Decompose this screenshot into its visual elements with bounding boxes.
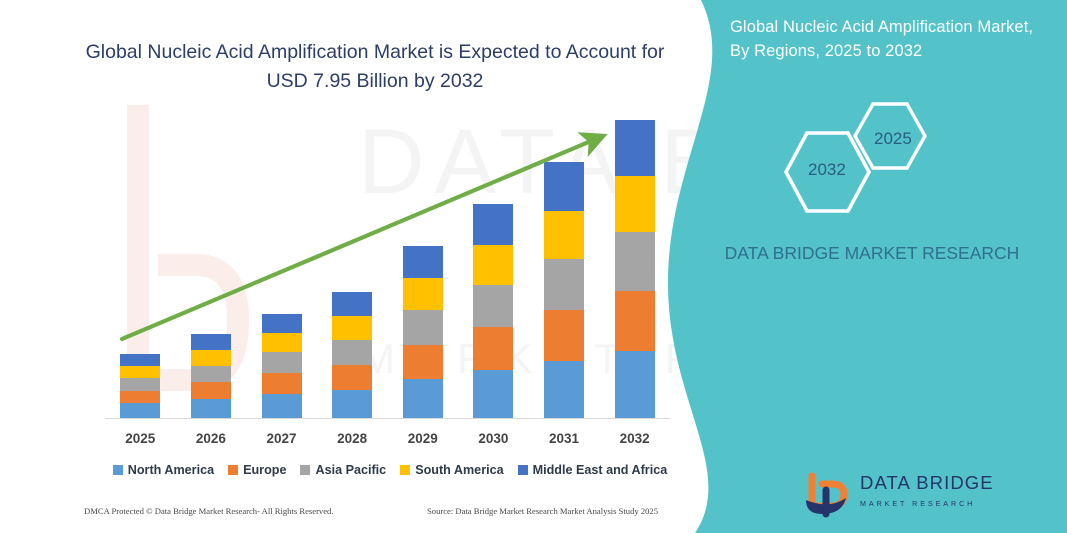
- legend-label: Asia Pacific: [315, 463, 386, 477]
- bar-segment-2032-south-america: [615, 176, 655, 231]
- bar-segment-2029-north-america: [403, 379, 443, 418]
- chart-legend: North AmericaEuropeAsia PacificSouth Ame…: [100, 459, 680, 481]
- x-axis-label-2029: 2029: [403, 431, 443, 446]
- bar-segment-2026-middle-east-and-africa: [191, 334, 231, 350]
- bar-2030: [473, 204, 513, 418]
- legend-item-middle-east-and-africa[interactable]: Middle East and Africa: [518, 463, 668, 477]
- bar-segment-2032-middle-east-and-africa: [615, 120, 655, 176]
- bar-segment-2031-europe: [544, 310, 584, 361]
- hexagon-2025-shape: [855, 104, 925, 168]
- bar-2027: [262, 314, 302, 418]
- bar-segment-2028-europe: [332, 365, 372, 390]
- bar-segment-2030-asia-pacific: [473, 285, 513, 328]
- footer-dmca: DMCA Protected © Data Bridge Market Rese…: [84, 506, 334, 516]
- legend-label: Europe: [243, 463, 286, 477]
- legend-item-europe[interactable]: Europe: [228, 463, 286, 477]
- infographic-root: DATA BRIDGE MARKET RESEARCH Global Nucle…: [0, 0, 1067, 533]
- dbmr-logo-mark-icon: [802, 472, 854, 518]
- bar-segment-2028-middle-east-and-africa: [332, 292, 372, 316]
- bar-segment-2025-south-america: [120, 366, 160, 378]
- x-axis-label-2032: 2032: [615, 431, 655, 446]
- legend-label: Middle East and Africa: [533, 463, 668, 477]
- hexagon-label-2032: 2032: [808, 160, 846, 180]
- bar-segment-2027-south-america: [262, 333, 302, 352]
- x-axis-label-2025: 2025: [120, 431, 160, 446]
- chart-bars: [105, 120, 670, 418]
- bar-segment-2025-asia-pacific: [120, 378, 160, 391]
- bar-segment-2030-north-america: [473, 370, 513, 418]
- legend-item-south-america[interactable]: South America: [400, 463, 503, 477]
- bar-segment-2030-europe: [473, 327, 513, 370]
- x-axis-label-2028: 2028: [332, 431, 372, 446]
- bar-2028: [332, 292, 372, 418]
- bar-segment-2030-middle-east-and-africa: [473, 204, 513, 244]
- bar-segment-2029-asia-pacific: [403, 310, 443, 344]
- regions-side-panel: Global Nucleic Acid Amplification Market…: [667, 0, 1067, 533]
- bar-segment-2029-middle-east-and-africa: [403, 246, 443, 278]
- bar-segment-2029-south-america: [403, 278, 443, 310]
- chart-baseline: [105, 418, 670, 419]
- bar-2031: [544, 162, 584, 418]
- bar-2025: [120, 354, 160, 418]
- bar-segment-2031-asia-pacific: [544, 259, 584, 310]
- x-axis-label-2026: 2026: [191, 431, 231, 446]
- legend-item-north-america[interactable]: North America: [113, 463, 214, 477]
- footer: DMCA Protected © Data Bridge Market Rese…: [0, 506, 740, 528]
- bar-segment-2028-north-america: [332, 390, 372, 418]
- dbmr-logo-line-1: DATA BRIDGE: [860, 474, 994, 493]
- bar-segment-2027-north-america: [262, 394, 302, 418]
- footer-source: Source: Data Bridge Market Research Mark…: [427, 506, 658, 516]
- legend-swatch-icon: [228, 465, 238, 475]
- panel-heading: Global Nucleic Acid Amplification Market…: [730, 16, 1040, 64]
- bar-segment-2028-south-america: [332, 316, 372, 339]
- chart-title: Global Nucleic Acid Amplification Market…: [70, 38, 680, 96]
- legend-swatch-icon: [113, 465, 123, 475]
- bar-segment-2031-north-america: [544, 361, 584, 418]
- bar-segment-2030-south-america: [473, 245, 513, 285]
- bar-segment-2032-asia-pacific: [615, 232, 655, 292]
- bar-segment-2032-north-america: [615, 351, 655, 418]
- bar-segment-2025-europe: [120, 391, 160, 404]
- bar-segment-2027-asia-pacific: [262, 352, 302, 373]
- legend-item-asia-pacific[interactable]: Asia Pacific: [300, 463, 386, 477]
- bar-segment-2026-north-america: [191, 399, 231, 418]
- bar-segment-2027-europe: [262, 373, 302, 394]
- bar-segment-2025-middle-east-and-africa: [120, 354, 160, 366]
- legend-swatch-icon: [518, 465, 528, 475]
- bar-segment-2025-north-america: [120, 403, 160, 418]
- bar-segment-2031-middle-east-and-africa: [544, 162, 584, 211]
- bar-segment-2029-europe: [403, 345, 443, 379]
- x-axis-label-2030: 2030: [473, 431, 513, 446]
- dbmr-logo: DATA BRIDGE MARKET RESEARCH: [802, 470, 1042, 522]
- bar-segment-2026-europe: [191, 382, 231, 399]
- legend-label: North America: [128, 463, 214, 477]
- hexagon-2032-shape: [786, 133, 869, 211]
- bar-2032: [615, 120, 655, 418]
- bar-segment-2026-asia-pacific: [191, 366, 231, 383]
- bar-segment-2028-asia-pacific: [332, 340, 372, 365]
- chart-x-axis: 20252026202720282029203020312032: [105, 426, 670, 450]
- legend-label: South America: [415, 463, 503, 477]
- bar-segment-2031-south-america: [544, 211, 584, 259]
- legend-swatch-icon: [300, 465, 310, 475]
- chart-panel: Global Nucleic Acid Amplification Market…: [0, 0, 740, 533]
- bar-segment-2027-middle-east-and-africa: [262, 314, 302, 333]
- bar-2029: [403, 246, 443, 418]
- x-axis-label-2031: 2031: [544, 431, 584, 446]
- legend-swatch-icon: [400, 465, 410, 475]
- bar-segment-2032-europe: [615, 291, 655, 351]
- bar-segment-2026-south-america: [191, 350, 231, 366]
- panel-brand-text: DATA BRIDGE MARKET RESEARCH: [707, 240, 1037, 267]
- x-axis-label-2027: 2027: [262, 431, 302, 446]
- bar-2026: [191, 334, 231, 418]
- hexagon-label-2025: 2025: [874, 129, 912, 149]
- dbmr-logo-line-2: MARKET RESEARCH: [860, 500, 994, 507]
